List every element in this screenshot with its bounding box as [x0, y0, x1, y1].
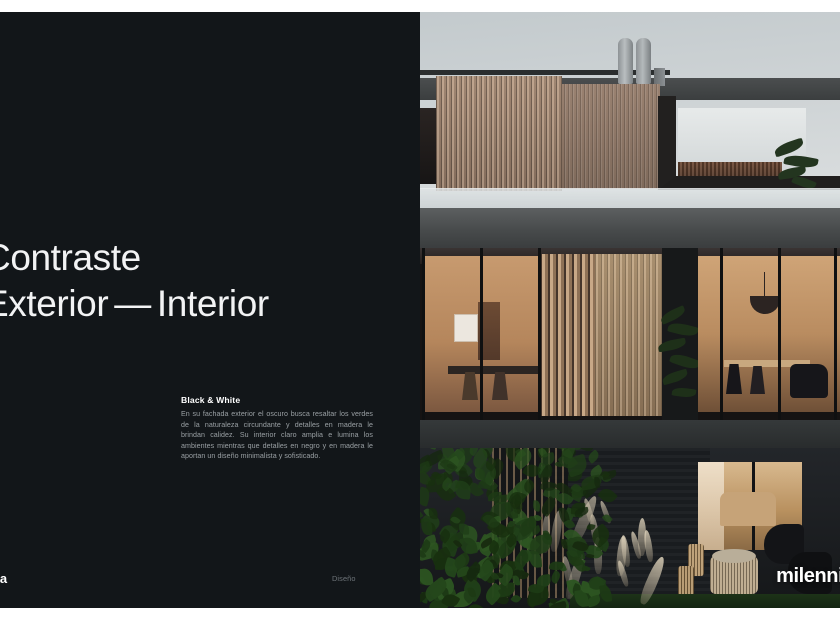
dark-text-panel: Contraste Exterior—Interior Black & Whit…: [0, 12, 420, 608]
blurb-block: Black & White En su fachada exterior el …: [181, 395, 373, 462]
middle-armchair: [790, 364, 828, 398]
headline-line-1: Contraste: [0, 235, 384, 281]
log-side-table: [710, 556, 758, 594]
wooden-stool-2: [678, 566, 694, 596]
page-title: Contraste Exterior—Interior: [0, 235, 384, 327]
headline-separator-dash: —: [108, 281, 157, 327]
headline-exterior: Exterior: [0, 283, 108, 324]
render-composition: [420, 12, 840, 608]
middle-wood-panel: [595, 254, 662, 416]
headline-interior: Interior: [157, 283, 269, 324]
glazing-mullion-4: [720, 248, 723, 424]
glazing-mullion-2: [480, 248, 483, 424]
page-margin-top: [0, 0, 840, 12]
footer-logo-left: ennia: [0, 571, 7, 586]
roof-wood-cladding-right: [560, 84, 660, 189]
roof-wood-slat-screen: [436, 76, 562, 191]
glazing-mullion-6: [834, 248, 837, 424]
headline-line-2: Exterior—Interior: [0, 281, 384, 327]
roof-potted-plant: [772, 134, 824, 192]
ground-sofa: [720, 492, 776, 526]
upper-floor-slab-band: [420, 208, 840, 250]
blurb-title: Black & White: [181, 395, 373, 405]
blurb-body: En su fachada exterior el oscuro busca r…: [181, 409, 373, 462]
wall-artwork: [454, 314, 478, 342]
glazing-mullion-1: [422, 248, 425, 424]
chimney-vent-left-icon: [618, 38, 633, 84]
glazing-mullion-5: [778, 248, 781, 424]
chimney-vent-right-icon: [636, 38, 651, 84]
middle-floor: [420, 248, 840, 424]
architectural-render-image: [420, 12, 840, 608]
footer-section-label: Diseño: [332, 574, 356, 583]
ivy-foliage-mass: [420, 448, 614, 608]
glazing-mullion-3: [538, 248, 541, 424]
footer-logo-right: milennia: [776, 565, 840, 588]
page-margin-bottom: [0, 608, 840, 630]
presentation-slide: Contraste Exterior—Interior Black & Whit…: [0, 12, 840, 608]
